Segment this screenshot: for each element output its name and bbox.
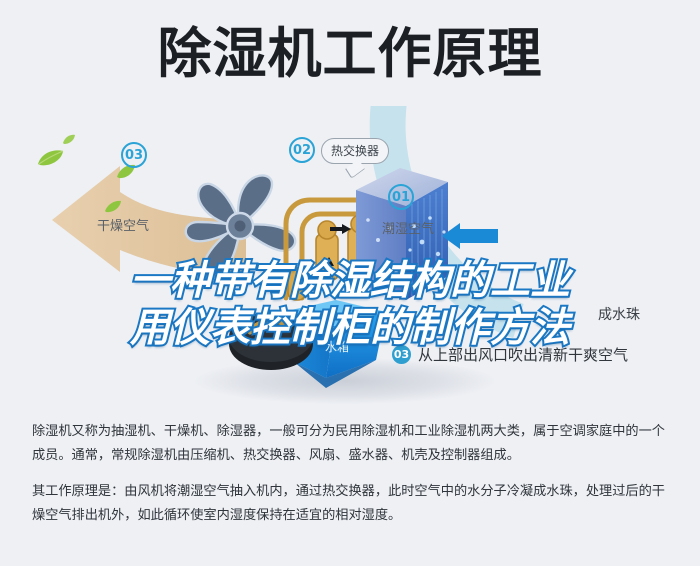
callout-heat-exchanger-text: 热交换器 (331, 144, 379, 158)
badge-moist-air: 01 (388, 184, 414, 210)
badge-heat-exchanger: 02 (289, 137, 315, 163)
label-moist-air: 潮湿空气 (382, 218, 434, 237)
body-copy: 除湿机又称为抽湿机、干燥机、除湿器，一般可分为民用除湿机和工业除湿机两大类，属于… (32, 420, 672, 528)
step-caption: 03 从上部出风口吹出清新干爽空气 (392, 344, 628, 365)
infographic-page: 除湿机工作原理 (0, 0, 700, 566)
leaf-icon (62, 132, 76, 150)
dehumidifier-diagram: 03 干燥空气 02 热交换器 01 潮湿空气 水箱 成水珠 03 从上部出风口… (0, 118, 700, 413)
partial-note-text: 成水珠 (598, 304, 640, 324)
compressor-base (226, 310, 316, 381)
body-paragraph-1: 除湿机又称为抽湿机、干燥机、除湿器，一般可分为民用除湿机和工业除湿机两大类，属于… (32, 420, 672, 468)
page-title-text: 除湿机工作原理 (158, 22, 543, 85)
intake-arrow-icon (440, 223, 500, 254)
callout-heat-exchanger: 热交换器 (321, 138, 389, 164)
badge-dry-air: 03 (121, 142, 147, 168)
page-title: 除湿机工作原理 (0, 26, 700, 83)
label-dry-air: 干燥空气 (97, 215, 149, 234)
leaf-icon (36, 148, 66, 173)
label-water-tank: 水箱 (325, 338, 349, 355)
body-paragraph-2: 其工作原理是：由风机将潮湿空气抽入机内，通过热交换器，此时空气中的水分子冷凝成水… (32, 480, 672, 528)
step-caption-text: 从上部出风口吹出清新干爽空气 (418, 344, 628, 365)
badge-caption-step: 03 (392, 345, 411, 364)
